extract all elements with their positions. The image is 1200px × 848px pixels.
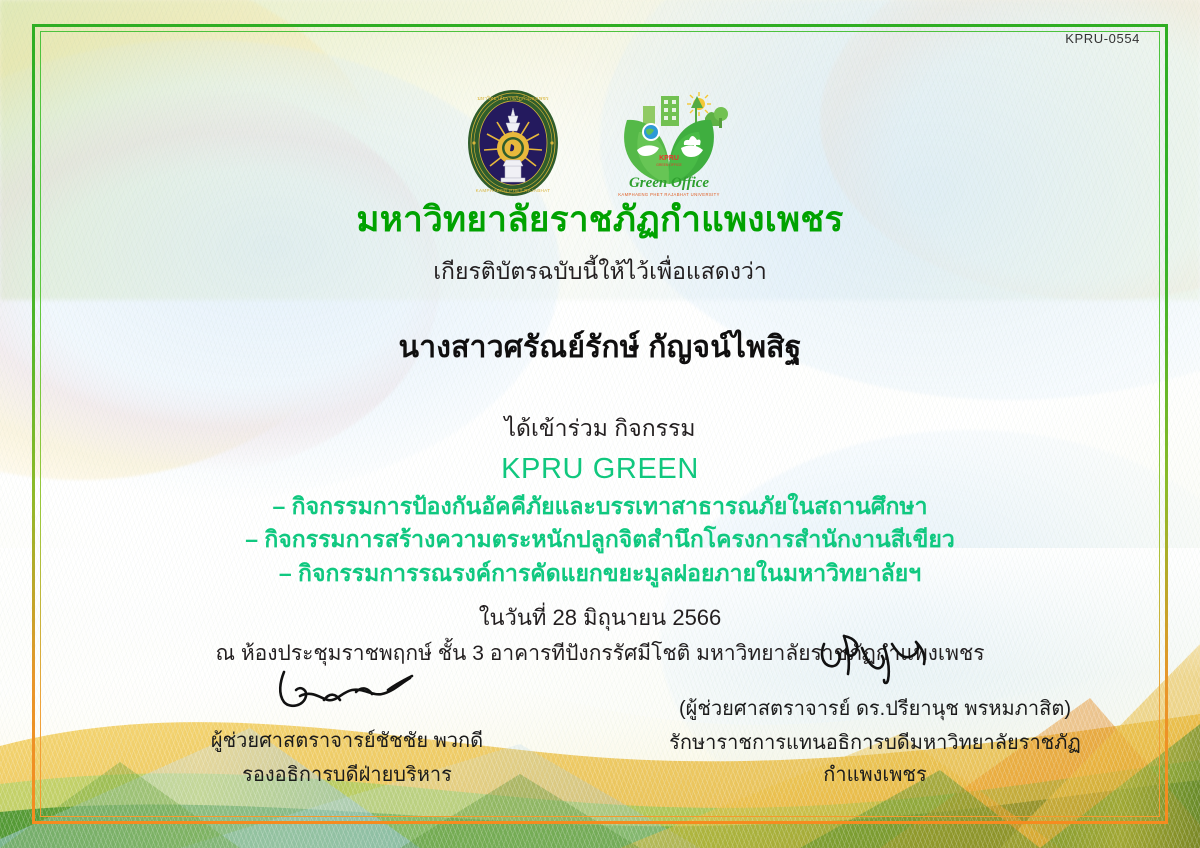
activity-list: – กิจกรรมการป้องกันอัคคีภัยและบรรเทาสาธา… [60,490,1140,591]
svg-text:KPRU: KPRU [659,155,679,162]
participation-label: ได้เข้าร่วม กิจกรรม [60,411,1140,447]
program-name: KPRU GREEN [60,453,1140,486]
svg-text:มหาวิทยาลัยราชภัฏกำแพงเพชร: มหาวิทยาลัยราชภัฏกำแพงเพชร [477,95,548,102]
signature-role-right: รักษาราชการแทนอธิการบดีมหาวิทยาลัยราชภัฏ… [640,726,1110,790]
activity-item: – กิจกรรมการป้องกันอัคคีภัยและบรรเทาสาธา… [60,490,1140,524]
signature-name-right: (ผู้ช่วยศาสตราจารย์ ดร.ปรียานุช พรหมภาสิ… [640,692,1110,724]
green-office-logo-icon: KPRU GREEN OFFICE Green Office KAMPHAENG… [603,88,735,200]
kpru-university-seal-icon: มหาวิทยาลัยราชภัฏกำแพงเพชร KAMPHAENG PHE… [465,88,561,198]
svg-text:GREEN OFFICE: GREEN OFFICE [656,163,682,167]
signature-block-left: ผู้ช่วยศาสตราจารย์ชัชชัย พวกดี รองอธิการ… [112,658,582,790]
serial-number: KPRU-0554 [1065,31,1140,46]
svg-text:Green Office: Green Office [629,175,709,191]
signature-row: ผู้ช่วยศาสตราจารย์ชัชชัย พวกดี รองอธิการ… [60,626,1140,790]
activity-item: – กิจกรรมการรณรงค์การคัดแยกขยะมูลฝอยภายใ… [60,557,1140,591]
svg-text:KAMPHAENG PHET RAJABHAT UNIVER: KAMPHAENG PHET RAJABHAT UNIVERSITY [618,192,720,197]
certificate-statement: เกียรติบัตรฉบับนี้ให้ไว้เพื่อแสดงว่า [60,254,1140,290]
signature-block-right: (ผู้ช่วยศาสตราจารย์ ดร.ปรียานุช พรหมภาสิ… [640,626,1110,790]
recipient-name: นางสาวศรัณย์รักษ์ กัญจน์ไพสิฐ [60,324,1140,371]
signature-name-left: ผู้ช่วยศาสตราจารย์ชัชชัย พวกดี [112,724,582,756]
organization-title: มหาวิทยาลัยราชภัฏกำแพงเพชร [60,198,1140,242]
signature-role-left: รองอธิการบดีฝ่ายบริหาร [112,758,582,790]
certificate-body: มหาวิทยาลัยราชภัฏกำแพงเพชร เกียรติบัตรฉบ… [60,198,1140,670]
logo-row: มหาวิทยาลัยราชภัฏกำแพงเพชร KAMPHAENG PHE… [0,88,1200,200]
activity-item: – กิจกรรมการสร้างความตระหนักปลูกจิตสำนึก… [60,523,1140,557]
signature-mark-right [640,626,1110,688]
signature-mark-left [112,658,582,720]
certificate-page: KPRU-0554 [0,0,1200,848]
svg-text:KAMPHAENG PHET RAJABHAT: KAMPHAENG PHET RAJABHAT [476,188,551,193]
